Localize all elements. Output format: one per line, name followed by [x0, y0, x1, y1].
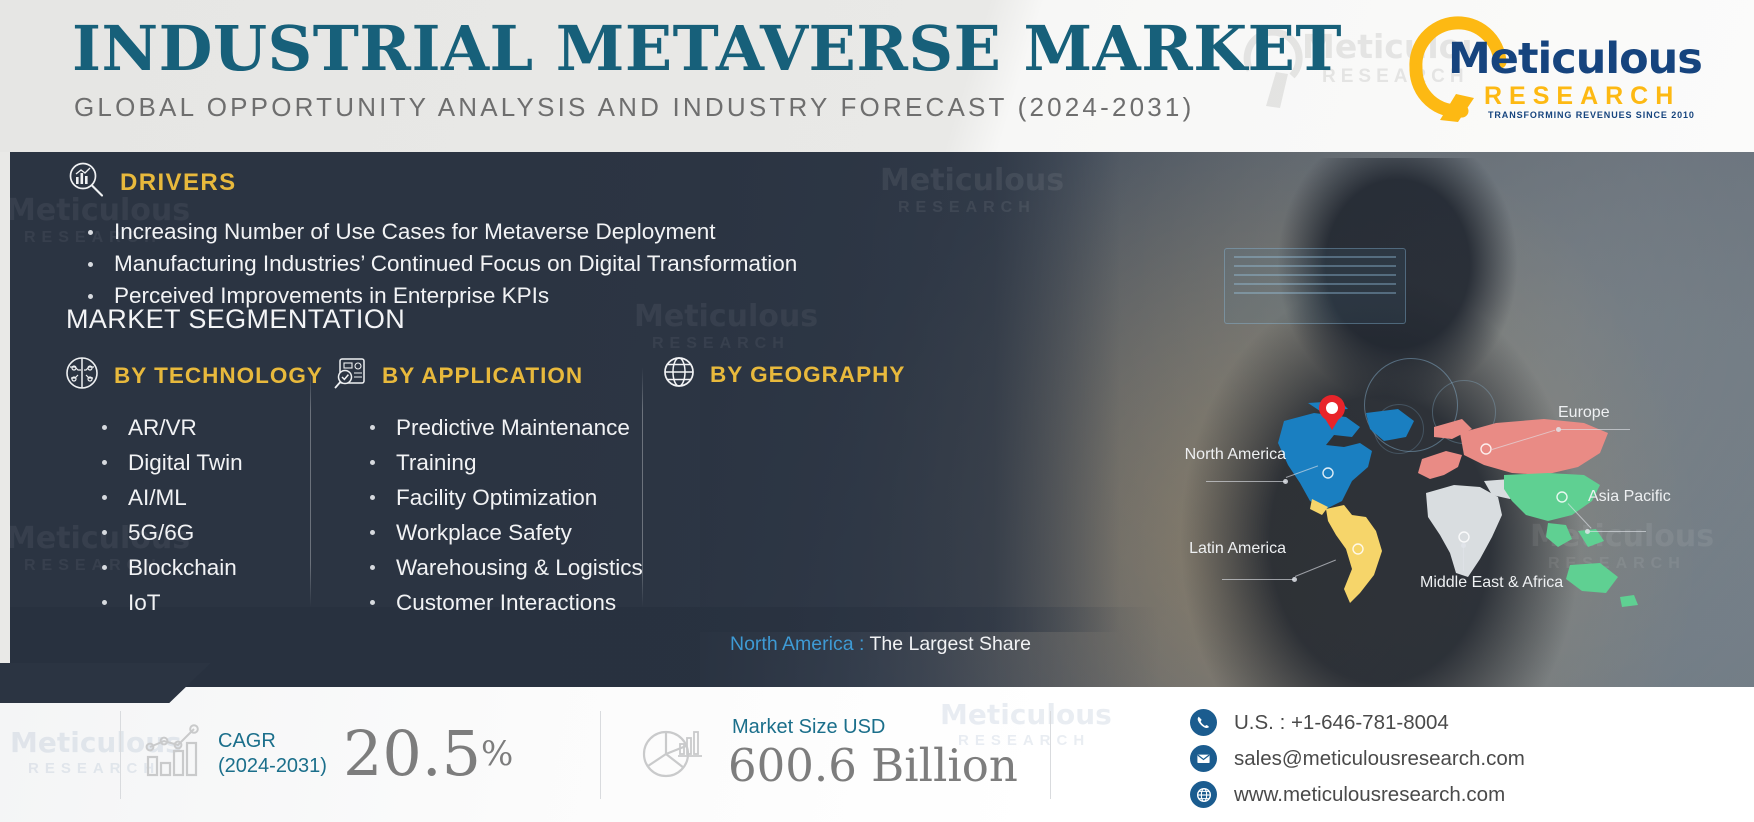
bar-chart-growth-icon [140, 721, 200, 786]
left-edge-strip [0, 152, 10, 687]
stat-cagr: CAGR (2024-2031) 20.5 % [140, 717, 513, 790]
globe-icon [1190, 781, 1217, 808]
leader-dot [1292, 577, 1297, 582]
geography-label: BY GEOGRAPHY [710, 362, 905, 388]
list-item: Blockchain [92, 550, 323, 585]
leader-line [1222, 579, 1294, 580]
footer-divider [1050, 711, 1051, 799]
leader-line [1206, 481, 1286, 482]
list-item: Predictive Maintenance [360, 410, 643, 445]
drivers-header: DRIVERS [66, 160, 797, 205]
list-item: Customer Interactions [360, 585, 643, 620]
list-item: AR/VR [92, 410, 323, 445]
footer-divider [600, 711, 601, 799]
cagr-unit: % [481, 734, 513, 774]
map-label-middle-east-africa: Middle East & Africa [1420, 573, 1563, 592]
segment-column-application: BY APPLICATION Predictive Maintenance Tr… [332, 355, 643, 620]
list-item: IoT [92, 585, 323, 620]
contact-phone[interactable]: U.S. : +1-646-781-8004 [1190, 709, 1525, 736]
map-region-europe [1418, 419, 1608, 479]
logo-tagline: TRANSFORMING REVENUES SINCE 2010 [1488, 110, 1695, 120]
cagr-value: 20.5 [343, 717, 481, 790]
list-item: 5G/6G [92, 515, 323, 550]
list-item: Digital Twin [92, 445, 323, 480]
leader-line [1560, 429, 1630, 430]
technology-list: AR/VR Digital Twin AI/ML 5G/6G Blockchai… [92, 410, 323, 620]
map-label-north-america: North America [1178, 445, 1286, 464]
segmentation-heading: MARKET SEGMENTATION [66, 304, 405, 335]
geography-header: BY GEOGRAPHY [662, 355, 905, 394]
page-subtitle: GLOBAL OPPORTUNITY ANALYSIS AND INDUSTRY… [74, 90, 1342, 124]
map-label-europe: Europe [1558, 403, 1610, 422]
website-text: www.meticulousresearch.com [1234, 783, 1505, 807]
leader-dot [1585, 529, 1590, 534]
leader-dot [1461, 543, 1466, 548]
list-item: Manufacturing Industries’ Continued Focu… [80, 249, 797, 279]
list-item: Training [360, 445, 643, 480]
world-map: North America Latin America Europe Asia … [1248, 397, 1648, 612]
application-header: BY APPLICATION [332, 355, 643, 396]
contact-email[interactable]: sales@meticulousresearch.com [1190, 745, 1525, 772]
magnifier-chart-icon [66, 160, 106, 205]
market-size-group: Market Size USD 600.6 Billion [728, 715, 1018, 792]
brand-logo[interactable]: Meticulous RESEARCH TRANSFORMING REVENUE… [1400, 12, 1700, 122]
hud-overlay [1224, 248, 1406, 324]
page-title: INDUSTRIAL METAVERSE MARKET [72, 14, 1342, 84]
email-text: sales@meticulousresearch.com [1234, 747, 1525, 771]
market-size-value: 600.6 Billion [728, 740, 1018, 792]
envelope-icon [1190, 745, 1217, 772]
segment-column-technology: BY TECHNOLOGY AR/VR Digital Twin AI/ML 5… [64, 355, 323, 620]
map-region-north-america [1278, 401, 1414, 509]
footer-bar: Meticulous RESEARCH Meticulous RESEARCH [0, 687, 1754, 822]
map-label-asia-pacific: Asia Pacific [1588, 487, 1671, 506]
header-bar: Meticulous RESEARCH INDUSTRIAL METAVERSE… [0, 0, 1754, 152]
map-label-latin-america: Latin America [1158, 539, 1286, 558]
map-region-latin-america [1310, 499, 1382, 603]
cagr-label: CAGR [218, 729, 327, 754]
technology-header: BY TECHNOLOGY [64, 355, 323, 396]
document-magnifier-icon [332, 355, 368, 396]
footer-divider [120, 711, 121, 799]
list-item: Warehousing & Logistics [360, 550, 643, 585]
stat-market-size: Market Size USD 600.6 Billion [640, 715, 1018, 792]
technology-label: BY TECHNOLOGY [114, 363, 323, 389]
leader-line [1590, 531, 1646, 532]
drivers-section: DRIVERS Increasing Number of Use Cases f… [66, 160, 797, 313]
leader-dot [1556, 427, 1561, 432]
drivers-list: Increasing Number of Use Cases for Metav… [80, 217, 797, 311]
map-region-middle-east-africa [1426, 479, 1520, 577]
list-item: Facility Optimization [360, 480, 643, 515]
application-list: Predictive Maintenance Training Facility… [360, 410, 643, 620]
cagr-period: (2024-2031) [218, 754, 327, 779]
leader-dot [1283, 479, 1288, 484]
logo-brand-text: Meticulous [1448, 34, 1702, 84]
title-block: INDUSTRIAL METAVERSE MARKET GLOBAL OPPOR… [72, 14, 1342, 124]
content-body: Meticulous RESEARCH Meticulous RESEARCH … [0, 152, 1754, 687]
map-callout-region: North America : [730, 633, 864, 655]
segment-column-geography: BY GEOGRAPHY [662, 355, 905, 394]
map-callout: North America : The Largest Share [730, 633, 1031, 656]
drivers-heading: DRIVERS [120, 169, 237, 197]
leader-line [1463, 545, 1464, 571]
list-item: Increasing Number of Use Cases for Metav… [80, 217, 797, 247]
logo-research-text: RESEARCH [1484, 82, 1680, 111]
phone-text: U.S. : +1-646-781-8004 [1234, 711, 1449, 735]
map-callout-text: The Largest Share [869, 633, 1031, 655]
globe-icon [662, 355, 696, 394]
infographic-root: Meticulous RESEARCH INDUSTRIAL METAVERSE… [0, 0, 1754, 822]
location-pin-tip [1324, 417, 1340, 430]
contact-block: U.S. : +1-646-781-8004 sales@meticulousr… [1190, 709, 1525, 817]
list-item: AI/ML [92, 480, 323, 515]
market-size-label: Market Size USD [732, 715, 1018, 740]
pie-chart-icon [640, 720, 706, 787]
list-item: Workplace Safety [360, 515, 643, 550]
brain-circuit-icon [64, 355, 100, 396]
cagr-label-group: CAGR (2024-2031) [218, 729, 327, 779]
contact-website[interactable]: www.meticulousresearch.com [1190, 781, 1525, 808]
application-label: BY APPLICATION [382, 363, 583, 389]
phone-icon [1190, 709, 1217, 736]
